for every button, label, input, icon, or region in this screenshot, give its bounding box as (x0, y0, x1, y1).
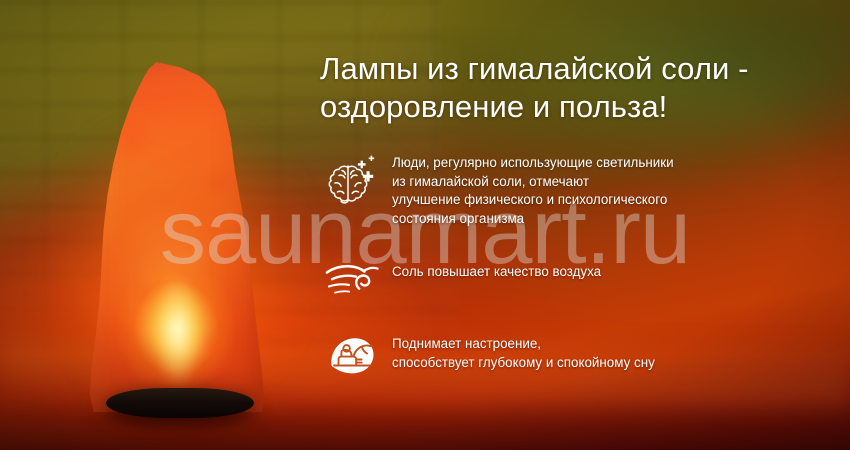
feature-text-sleep: Поднимает настроение, способствует глубо… (392, 326, 846, 372)
feature-line: улучшение физического и психологического (392, 191, 846, 210)
wind-air-icon (318, 250, 392, 300)
headline-line-2: оздоровление и польза! (320, 88, 840, 126)
banner-content: Лампы из гималайской соли - оздоровление… (318, 0, 846, 450)
feature-item-sleep: Поднимает настроение, способствует глубо… (318, 326, 846, 378)
salt-lamp-promo-banner: saunamart.ru Лампы из гималайской соли -… (0, 0, 850, 450)
feature-line: Люди, регулярно использующие светильники (392, 154, 846, 173)
page-title: Лампы из гималайской соли - оздоровление… (320, 50, 840, 126)
feature-list: Люди, регулярно использующие светильники… (318, 150, 846, 394)
feature-line: состояния организма (392, 210, 846, 229)
feature-text-air-quality: Соль повышает качество воздуха (392, 250, 846, 282)
feature-line: Поднимает настроение, (392, 335, 846, 354)
feature-line: способствует глубокому и спокойному сну (392, 354, 846, 373)
feature-line: из гималайской соли, отмечают (392, 173, 846, 192)
feature-item-wellbeing: Люди, регулярно использующие светильники… (318, 150, 846, 228)
headline-line-1: Лампы из гималайской соли - (320, 51, 749, 86)
feature-text-wellbeing: Люди, регулярно использующие светильники… (392, 150, 846, 228)
sleeping-person-icon (318, 326, 392, 378)
feature-line: Соль повышает качество воздуха (392, 263, 846, 282)
brain-sparkle-icon (318, 150, 392, 212)
feature-item-air-quality: Соль повышает качество воздуха (318, 250, 846, 302)
